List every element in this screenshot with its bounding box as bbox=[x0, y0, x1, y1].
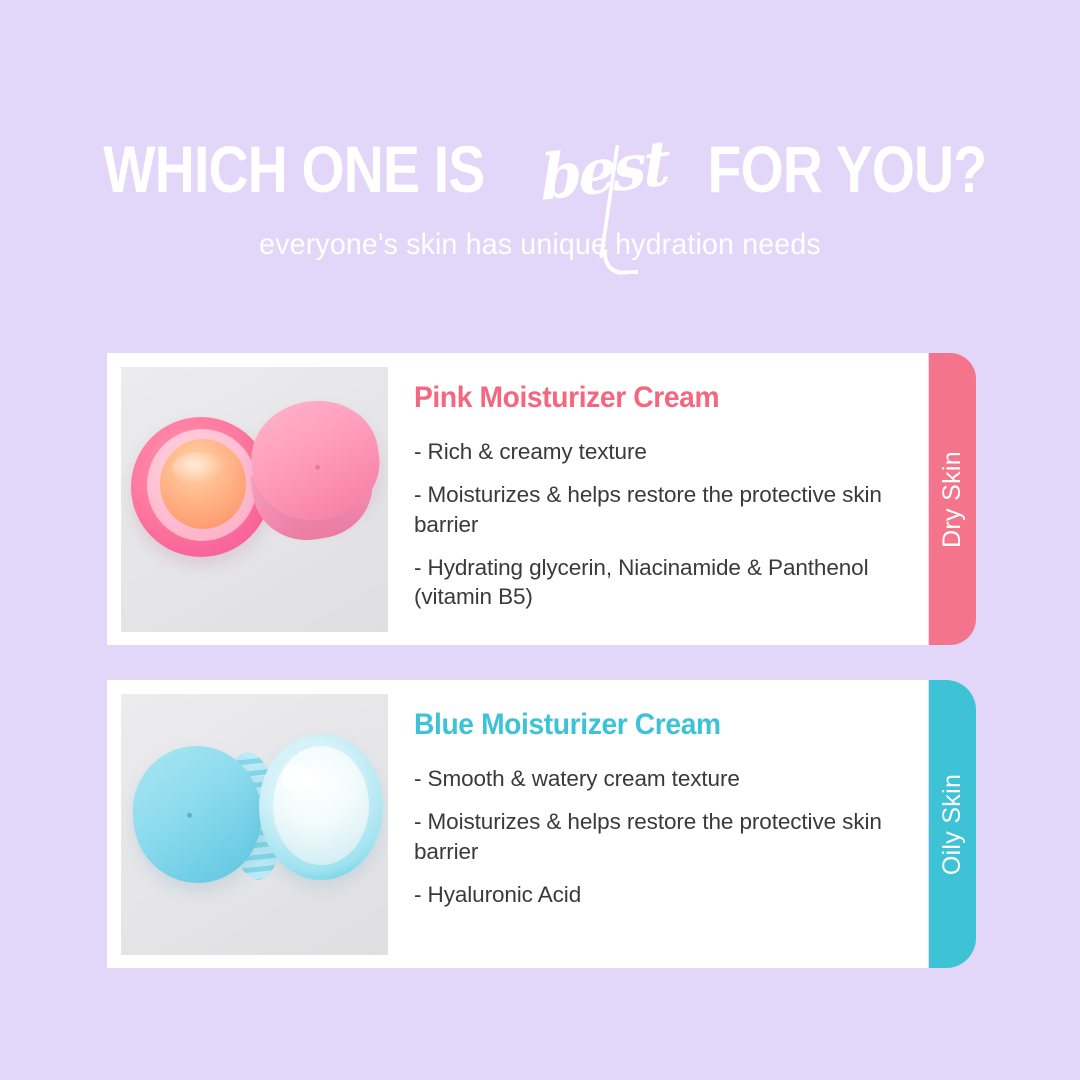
skin-type-tab-oily-label: Oily Skin bbox=[938, 773, 967, 874]
headline-part-1: WHICH ONE IS bbox=[103, 136, 484, 202]
feature-item: - Moisturizes & helps restore the protec… bbox=[414, 480, 900, 539]
pink-cream-surface bbox=[160, 439, 246, 529]
product-card-blue: Blue Moisturizer Cream - Smooth & watery… bbox=[107, 680, 928, 968]
product-title-pink: Pink Moisturizer Cream bbox=[414, 381, 871, 415]
product-card-pink: Pink Moisturizer Cream - Rich & creamy t… bbox=[107, 353, 928, 645]
feature-item: - Hyaluronic Acid bbox=[414, 880, 900, 909]
subtitle: everyone's skin has unique hydration nee… bbox=[27, 228, 1053, 262]
headline-script-word: best bbox=[540, 132, 668, 210]
product-photo-blue bbox=[121, 694, 388, 955]
skin-type-tab-dry: Dry Skin bbox=[929, 353, 976, 645]
headline: WHICH ONE ISbestFOR YOU? bbox=[0, 136, 1080, 202]
product-text-pink: Pink Moisturizer Cream - Rich & creamy t… bbox=[388, 367, 914, 611]
feature-item: - Moisturizes & helps restore the protec… bbox=[414, 807, 900, 866]
skin-type-tab-oily: Oily Skin bbox=[929, 680, 976, 968]
feature-item: - Hydrating glycerin, Niacinamide & Pant… bbox=[414, 553, 900, 612]
blue-cream-surface bbox=[273, 746, 369, 865]
feature-item: - Smooth & watery cream texture bbox=[414, 764, 900, 793]
infographic-canvas: WHICH ONE ISbestFOR YOU? everyone's skin… bbox=[0, 0, 1080, 1080]
product-title-blue: Blue Moisturizer Cream bbox=[414, 708, 871, 742]
product-text-blue: Blue Moisturizer Cream - Smooth & watery… bbox=[388, 694, 914, 909]
product-photo-pink bbox=[121, 367, 388, 632]
headline-part-2: FOR YOU? bbox=[708, 136, 987, 202]
feature-item: - Rich & creamy texture bbox=[414, 437, 900, 466]
skin-type-tab-dry-label: Dry Skin bbox=[938, 451, 967, 548]
